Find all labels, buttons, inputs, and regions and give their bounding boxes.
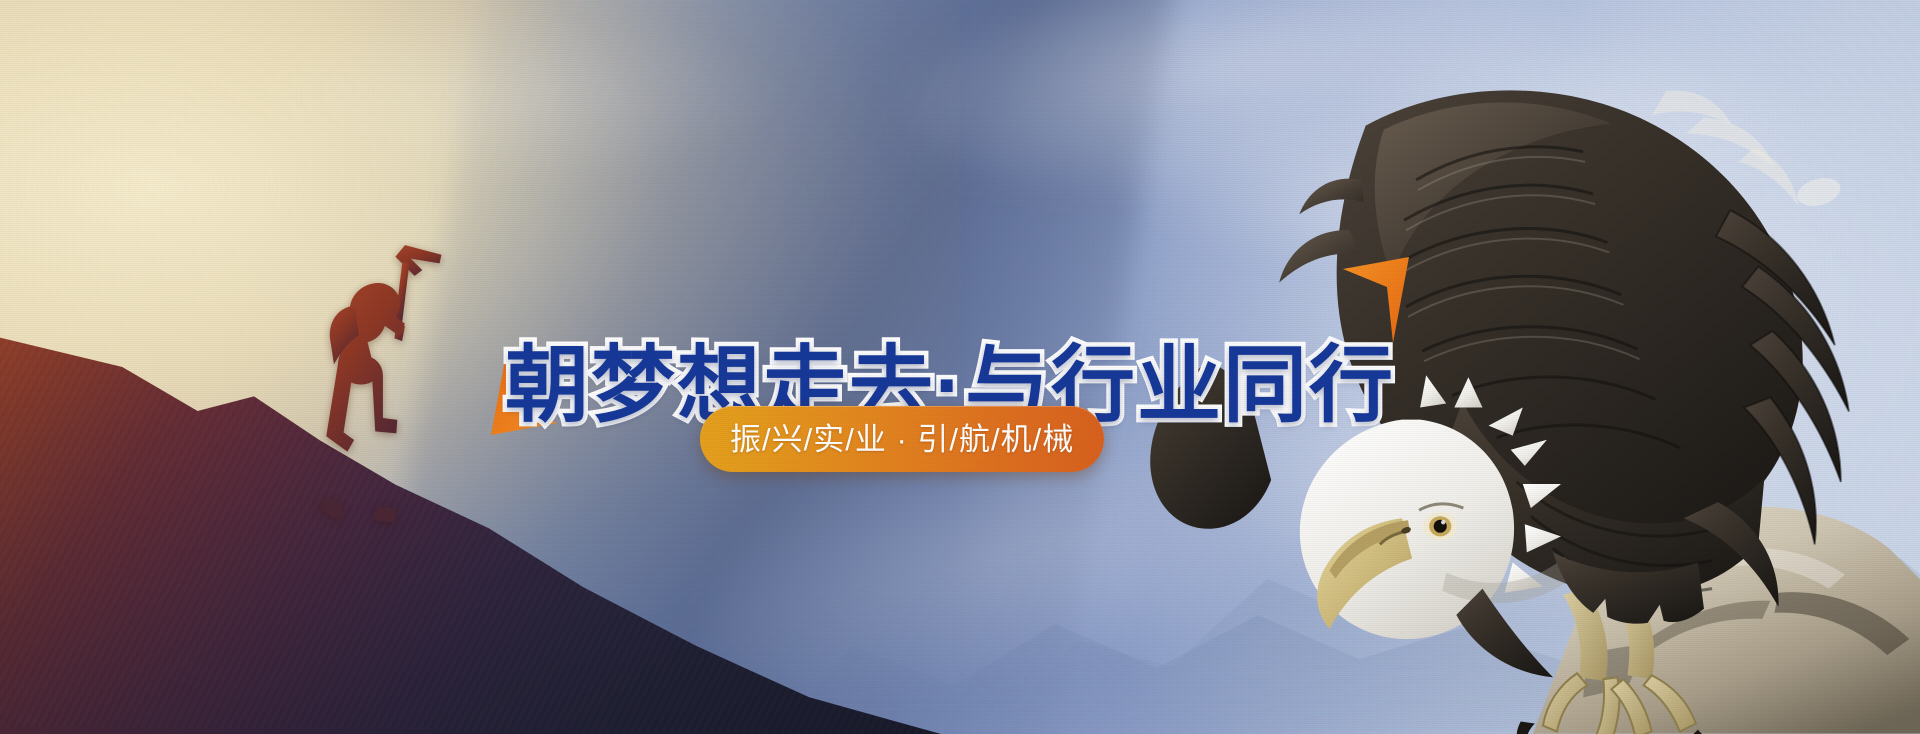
- subtitle-badge-label: 振/兴/实/业 · 引/航/机/械: [730, 424, 1074, 455]
- subtitle-badge: 振/兴/实/业 · 引/航/机/械: [700, 406, 1104, 472]
- climber-silhouette: [261, 224, 463, 554]
- hero-banner: 朝梦想走去·与行业同行 振/兴/实/业 · 引/航/机/械: [0, 0, 1920, 734]
